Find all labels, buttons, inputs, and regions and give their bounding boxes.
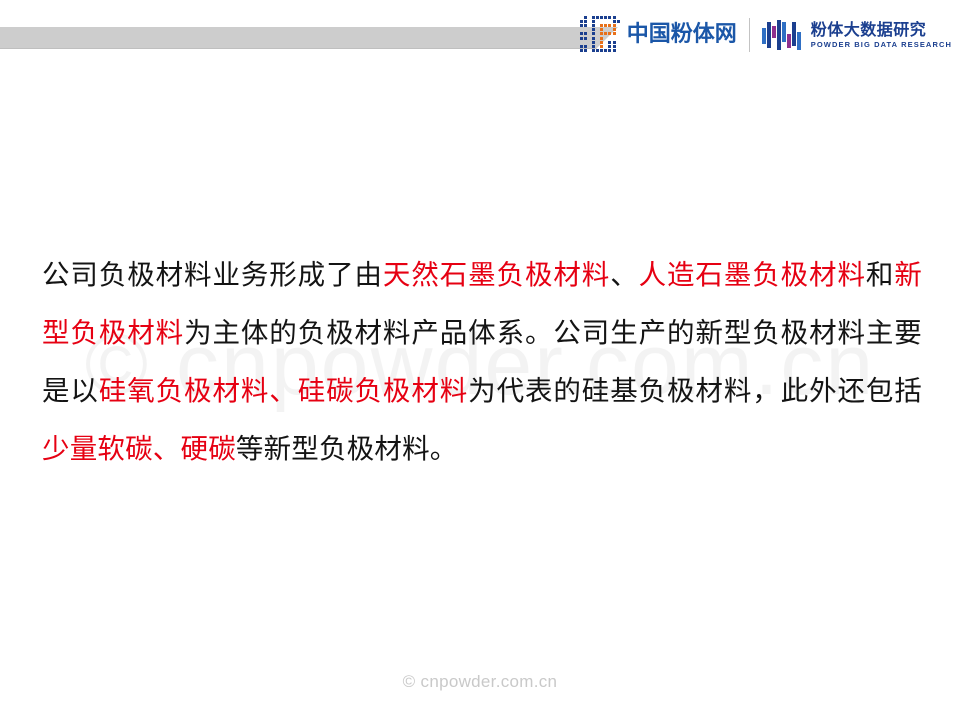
- logo-pixel: [592, 37, 595, 40]
- page-header: 中国粉体网 粉体大数据研究 POWDER BIG DATA RESEARCH: [0, 0, 960, 72]
- logo-pixel: [592, 49, 595, 52]
- logo-pixel: [584, 37, 587, 40]
- bar-chart-logo-icon: [762, 18, 804, 52]
- logo-pixel: [580, 49, 583, 52]
- logo-pixel: [613, 49, 616, 52]
- logo-pixel: [600, 37, 603, 40]
- logo-bar: [762, 28, 766, 44]
- logo-pixel: [608, 32, 611, 35]
- logo-pixel: [584, 24, 587, 27]
- logo-pixel: [580, 37, 583, 40]
- brand-divider: [749, 18, 750, 52]
- logo-pixel: [608, 45, 611, 48]
- logo-pixel: [613, 20, 616, 23]
- brand-bigdata-label-cn: 粉体大数据研究: [811, 22, 952, 38]
- logo-pixel: [600, 49, 603, 52]
- highlighted-term: 少量软碳、硬碳: [42, 433, 236, 465]
- logo-bar: [772, 26, 776, 38]
- logo-pixel: [592, 41, 595, 44]
- logo-pixel: [613, 28, 616, 31]
- logo-pixel: [584, 16, 587, 19]
- brand-bigdata-text: 粉体大数据研究 POWDER BIG DATA RESEARCH: [811, 22, 952, 49]
- highlighted-term: 硅氧负极材料、硅碳负极材料: [99, 375, 468, 407]
- logo-bar: [777, 20, 781, 50]
- brand-lockup: 中国粉体网 粉体大数据研究 POWDER BIG DATA RESEARCH: [580, 10, 952, 60]
- logo-pixel: [600, 24, 603, 27]
- brand-cnpowder: 中国粉体网: [580, 16, 737, 54]
- highlighted-term: 天然石墨负极材料: [383, 259, 610, 291]
- logo-pixel: [592, 32, 595, 35]
- logo-pixel: [584, 32, 587, 35]
- logo-pixel: [604, 16, 607, 19]
- body-text-run: 和: [866, 259, 894, 291]
- logo-pixel: [604, 49, 607, 52]
- logo-pixel: [604, 24, 607, 27]
- logo-bar: [797, 32, 801, 50]
- highlighted-term: 人造石墨负极材料: [639, 259, 866, 291]
- logo-pixel: [584, 20, 587, 23]
- brand-bigdata: 粉体大数据研究 POWDER BIG DATA RESEARCH: [762, 18, 952, 52]
- footer-copyright: © cnpowder.com.cn: [0, 672, 960, 692]
- logo-pixel: [584, 49, 587, 52]
- logo-pixel: [580, 45, 583, 48]
- logo-bar: [792, 22, 796, 46]
- logo-pixel: [592, 28, 595, 31]
- brand-bigdata-label-en: POWDER BIG DATA RESEARCH: [811, 41, 952, 49]
- logo-pixel: [592, 24, 595, 27]
- logo-pixel: [580, 20, 583, 23]
- logo-pixel: [613, 41, 616, 44]
- logo-pixel: [596, 49, 599, 52]
- logo-pixel: [608, 16, 611, 19]
- logo-pixel: [608, 41, 611, 44]
- logo-pixel: [608, 24, 611, 27]
- logo-bar: [767, 22, 771, 48]
- logo-pixel: [600, 28, 603, 31]
- content-area: 公司负极材料业务形成了由天然石墨负极材料、人造石墨负极材料和新型负极材料为主体的…: [42, 218, 922, 505]
- logo-pixel: [596, 16, 599, 19]
- logo-bar: [782, 22, 786, 42]
- logo-pixel: [604, 32, 607, 35]
- logo-bar: [787, 34, 791, 48]
- body-text-run: 等新型负极材料。: [236, 433, 458, 465]
- body-text-run: 为代表的硅基负极材料，此外还包括: [468, 375, 922, 407]
- body-text-run: 、: [610, 259, 638, 291]
- logo-pixel: [613, 45, 616, 48]
- logo-pixel: [617, 20, 620, 23]
- logo-pixel: [608, 49, 611, 52]
- logo-pixel: [584, 45, 587, 48]
- logo-pixel: [613, 24, 616, 27]
- logo-pixel: [613, 32, 616, 35]
- logo-pixel: [613, 16, 616, 19]
- logo-pixel: [580, 24, 583, 27]
- pixel-p-logo-icon: [580, 16, 622, 54]
- logo-pixel: [592, 20, 595, 23]
- logo-pixel: [592, 45, 595, 48]
- logo-pixel: [600, 16, 603, 19]
- body-paragraph: 公司负极材料业务形成了由天然石墨负极材料、人造石墨负极材料和新型负极材料为主体的…: [42, 246, 922, 478]
- header-accent-bar: [0, 27, 618, 49]
- logo-pixel: [600, 32, 603, 35]
- body-text-run: 公司负极材料业务形成了由: [42, 259, 383, 291]
- logo-pixel: [600, 45, 603, 48]
- logo-pixel: [580, 32, 583, 35]
- logo-pixel: [592, 16, 595, 19]
- logo-pixel: [600, 41, 603, 44]
- brand-cnpowder-label: 中国粉体网: [627, 24, 737, 46]
